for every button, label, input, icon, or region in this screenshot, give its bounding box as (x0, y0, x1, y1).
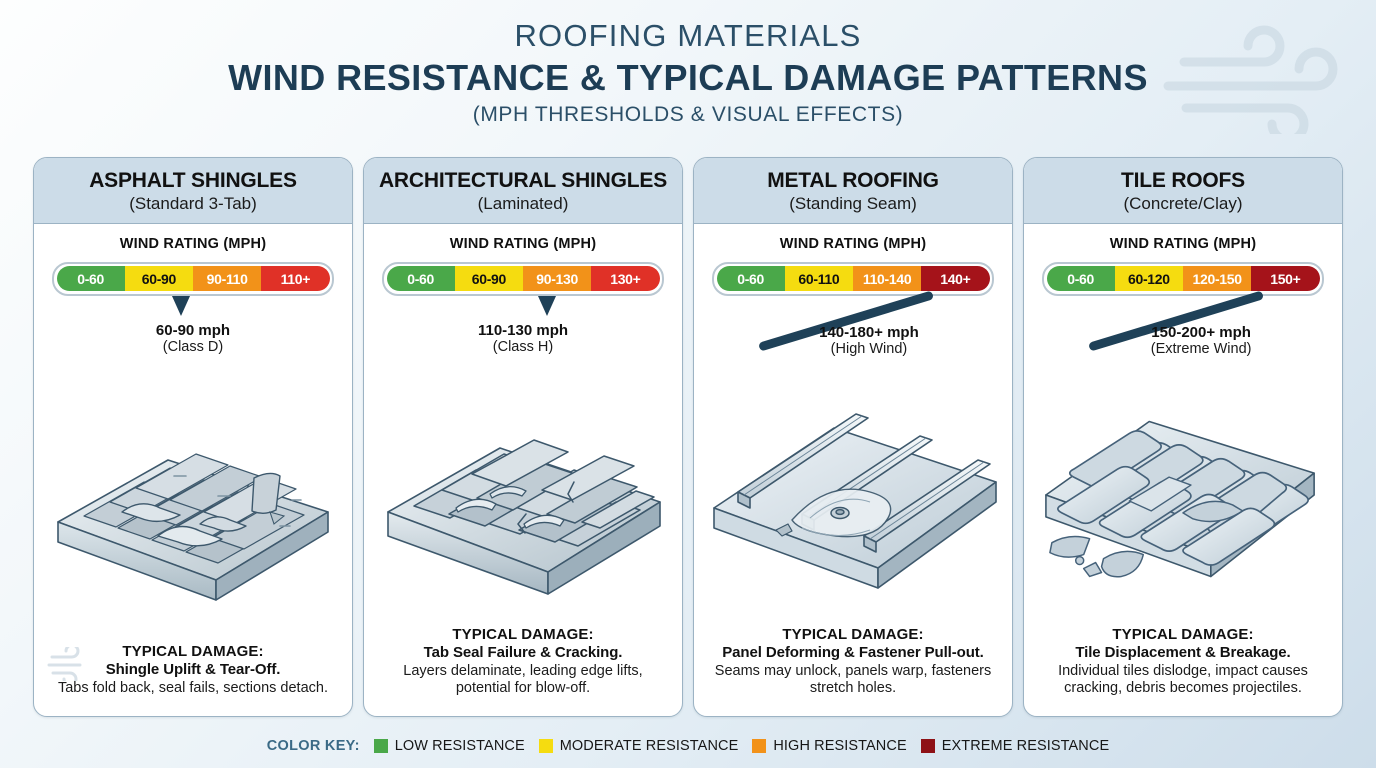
legend-label: HIGH RESISTANCE (773, 738, 906, 754)
asphalt-shingle-roof-illustration (44, 366, 342, 644)
legend-swatch-moderate (539, 739, 553, 753)
material-card-asphalt-shingles[interactable]: ASPHALT SHINGLES (Standard 3-Tab) WIND R… (33, 157, 353, 717)
rating-segment[interactable]: 110+ (261, 266, 329, 291)
wind-rating-label: WIND RATING (MPH) (374, 236, 672, 252)
rating-segment[interactable]: 60-90 (455, 266, 523, 291)
rating-segment[interactable]: 110-140 (853, 266, 921, 291)
wind-rating-label: WIND RATING (MPH) (1034, 236, 1332, 252)
rating-segment[interactable]: 150+ (1251, 266, 1319, 291)
threshold-class: (Class D) (44, 339, 342, 356)
card-body: WIND RATING (MPH) 0-60 60-110 110-140 14… (694, 224, 1012, 716)
wind-rating-label: WIND RATING (MPH) (44, 236, 342, 252)
card-title: TILE ROOFS (1030, 169, 1336, 193)
damage-description: Individual tiles dislodge, impact causes… (1040, 663, 1326, 698)
damage-heading: TYPICAL DAMAGE: (1040, 626, 1326, 643)
legend-swatch-low (374, 739, 388, 753)
typical-damage-block: TYPICAL DAMAGE: Shingle Uplift & Tear-Of… (44, 643, 342, 708)
wind-icon (46, 647, 90, 681)
wind-rating-bar: 0-60 60-90 90-110 110+ (52, 262, 334, 296)
card-header: ASPHALT SHINGLES (Standard 3-Tab) (34, 158, 352, 224)
legend-label: MODERATE RESISTANCE (560, 738, 739, 754)
threshold-value: 140-180+ mph (819, 324, 919, 342)
threshold-value: 110-130 mph (374, 322, 672, 340)
card-body: WIND RATING (MPH) 0-60 60-90 90-110 110+… (34, 224, 352, 716)
rating-segment[interactable]: 60-120 (1115, 266, 1183, 291)
rating-segment[interactable]: 0-60 (387, 266, 455, 291)
threshold-pointer-zone: 110-130 mph (Class H) (374, 296, 672, 372)
color-key-legend: COLOR KEY: LOW RESISTANCE MODERATE RESIS… (0, 738, 1376, 754)
tile-roof-illustration (1034, 366, 1332, 626)
damage-description: Layers delaminate, leading edge lifts, p… (380, 663, 666, 698)
damage-title: Tile Displacement & Breakage. (1040, 644, 1326, 661)
threshold-class: (Extreme Wind) (1151, 341, 1252, 358)
damage-description: Tabs fold back, seal fails, sections det… (50, 680, 336, 698)
damage-description: Seams may unlock, panels warp, fasteners… (710, 663, 996, 698)
card-title: METAL ROOFING (700, 169, 1006, 193)
card-body: WIND RATING (MPH) 0-60 60-120 120-150 15… (1024, 224, 1342, 716)
card-header: TILE ROOFS (Concrete/Clay) (1024, 158, 1342, 224)
legend-title: COLOR KEY: (267, 738, 360, 754)
rating-segment[interactable]: 0-60 (57, 266, 125, 291)
wind-icon (1156, 14, 1366, 134)
damage-title: Tab Seal Failure & Cracking. (380, 644, 666, 661)
typical-damage-block: TYPICAL DAMAGE: Tile Displacement & Brea… (1034, 626, 1332, 708)
legend-swatch-extreme (921, 739, 935, 753)
material-card-architectural-shingles[interactable]: ARCHITECTURAL SHINGLES (Laminated) WIND … (363, 157, 683, 717)
legend-item-moderate: MODERATE RESISTANCE (539, 738, 739, 754)
legend-item-high: HIGH RESISTANCE (752, 738, 906, 754)
card-body: WIND RATING (MPH) 0-60 60-90 90-130 130+… (364, 224, 682, 716)
rating-segment[interactable]: 60-110 (785, 266, 853, 291)
threshold-value: 60-90 mph (44, 322, 342, 340)
legend-label: LOW RESISTANCE (395, 738, 525, 754)
card-header: ARCHITECTURAL SHINGLES (Laminated) (364, 158, 682, 224)
rating-segment[interactable]: 0-60 (717, 266, 785, 291)
rating-segment[interactable]: 60-90 (125, 266, 193, 291)
rating-segment[interactable]: 90-130 (523, 266, 591, 291)
card-title: ASPHALT SHINGLES (40, 169, 346, 193)
threshold-pointer-zone: 140-180+ mph (High Wind) (704, 296, 1002, 372)
card-title: ARCHITECTURAL SHINGLES (370, 169, 676, 193)
wind-rating-label: WIND RATING (MPH) (704, 236, 1002, 252)
legend-label: EXTREME RESISTANCE (942, 738, 1110, 754)
typical-damage-block: TYPICAL DAMAGE: Tab Seal Failure & Crack… (374, 626, 672, 708)
threshold-class: (Class H) (374, 339, 672, 356)
rating-segment[interactable]: 90-110 (193, 266, 261, 291)
threshold-pointer-icon (538, 296, 556, 316)
legend-swatch-high (752, 739, 766, 753)
architectural-shingle-roof-illustration (374, 366, 672, 626)
material-card-tile-roofs[interactable]: TILE ROOFS (Concrete/Clay) WIND RATING (… (1023, 157, 1343, 717)
rating-segment[interactable]: 0-60 (1047, 266, 1115, 291)
damage-title: Panel Deforming & Fastener Pull-out. (710, 644, 996, 661)
legend-item-low: LOW RESISTANCE (374, 738, 525, 754)
threshold-class: (High Wind) (819, 341, 919, 358)
damage-heading: TYPICAL DAMAGE: (710, 626, 996, 643)
wind-rating-bar: 0-60 60-90 90-130 130+ (382, 262, 664, 296)
threshold-pointer-zone: 60-90 mph (Class D) (44, 296, 342, 372)
typical-damage-block: TYPICAL DAMAGE: Panel Deforming & Fasten… (704, 626, 1002, 708)
material-card-metal-roofing[interactable]: METAL ROOFING (Standing Seam) WIND RATIN… (693, 157, 1013, 717)
card-subtitle: (Standard 3-Tab) (40, 194, 346, 214)
rating-segment[interactable]: 140+ (921, 266, 989, 291)
threshold-pointer-zone: 150-200+ mph (Extreme Wind) (1034, 296, 1332, 372)
standing-seam-metal-roof-illustration (704, 366, 1002, 626)
card-subtitle: (Standing Seam) (700, 194, 1006, 214)
threshold-pointer-icon (172, 296, 190, 316)
wind-rating-bar: 0-60 60-110 110-140 140+ (712, 262, 994, 296)
card-subtitle: (Laminated) (370, 194, 676, 214)
damage-heading: TYPICAL DAMAGE: (380, 626, 666, 643)
damage-title: Shingle Uplift & Tear-Off. (50, 661, 336, 678)
card-subtitle: (Concrete/Clay) (1030, 194, 1336, 214)
material-cards-container: ASPHALT SHINGLES (Standard 3-Tab) WIND R… (33, 157, 1343, 717)
rating-segment[interactable]: 120-150 (1183, 266, 1251, 291)
rating-segment[interactable]: 130+ (591, 266, 659, 291)
threshold-value: 150-200+ mph (1151, 324, 1252, 342)
legend-item-extreme: EXTREME RESISTANCE (921, 738, 1110, 754)
wind-rating-bar: 0-60 60-120 120-150 150+ (1042, 262, 1324, 296)
damage-heading: TYPICAL DAMAGE: (50, 643, 336, 660)
card-header: METAL ROOFING (Standing Seam) (694, 158, 1012, 224)
